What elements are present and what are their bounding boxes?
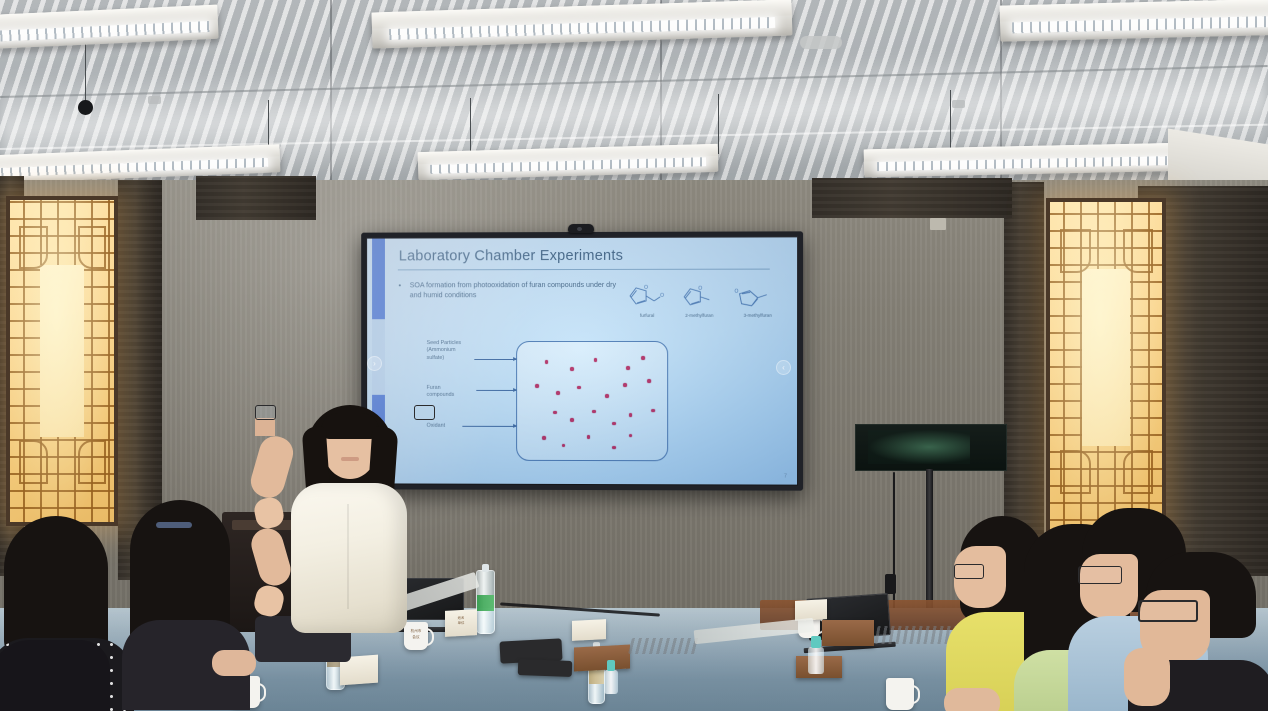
svg-text:O: O (698, 286, 702, 292)
light-wire (718, 94, 719, 154)
wall-header-beam (196, 176, 316, 220)
wooden-tray (574, 645, 630, 672)
chamber-particle (570, 418, 574, 422)
svg-text:O: O (644, 285, 648, 291)
presenter-bangs (321, 413, 379, 439)
chamber-arrow-seed (474, 359, 516, 360)
chamber-particles (367, 237, 797, 238)
chamber-particle (626, 366, 630, 370)
slide-prev-arrow-icon[interactable]: ‹ (776, 360, 791, 375)
wooden-tray (822, 620, 874, 646)
chamber-particle (556, 391, 560, 395)
slide-title: Laboratory Chamber Experiments (399, 248, 623, 265)
attendee-glasses-icon (1138, 600, 1198, 622)
attendee-hands (944, 688, 1000, 711)
svg-text:O: O (660, 293, 664, 299)
methylfuran3-icon: O (730, 280, 782, 312)
foreground-silhouette (0, 640, 110, 711)
chamber-arrow-oxidant (462, 426, 516, 427)
wall-header-beam (812, 178, 1012, 218)
slide-bullet: SOA formation from photooxidation of fur… (399, 280, 626, 301)
hand-sanitizer[interactable] (604, 660, 618, 694)
chamber-particle (612, 422, 616, 426)
keyboard[interactable] (628, 638, 700, 654)
chamber-particle (612, 446, 616, 450)
svg-text:O: O (735, 289, 739, 295)
reaction-chamber-diagram (516, 341, 668, 461)
structure-3-methylfuran: O 3-methylfuran (730, 280, 784, 326)
chamber-particle (542, 436, 546, 440)
attendee-arm (212, 650, 256, 676)
light-wire (470, 98, 471, 154)
webcam-icon (568, 224, 594, 233)
slide-next-arrow-icon[interactable]: › (367, 356, 382, 371)
hand-sanitizer[interactable] (808, 636, 824, 674)
presenter (255, 405, 435, 660)
presenter-hand-left (252, 495, 286, 530)
chamber-particle (641, 356, 645, 360)
wall-outlet-icon (930, 218, 946, 230)
chemical-structures: O O furfural O 2-m (624, 280, 785, 326)
conference-room-scene: Laboratory Chamber Experiments SOA forma… (0, 0, 1268, 711)
structure-furfural: O O furfural (624, 280, 670, 326)
lattice-screen-right (1046, 198, 1166, 538)
presenter-neck (255, 418, 275, 436)
title-divider (398, 269, 770, 271)
coffee-mug[interactable] (886, 678, 914, 710)
name-card-text: 姓名 单位 (447, 615, 475, 627)
presenter-blouse (291, 483, 407, 633)
light-wire (950, 90, 951, 148)
chamber-particle (570, 367, 574, 371)
chamber-particle (535, 384, 539, 388)
presenter-arm-left (247, 433, 297, 502)
methylfuran2-icon: O (676, 280, 722, 312)
bullet-dot-icon (399, 284, 401, 286)
lattice-screen-left (6, 196, 118, 526)
name-card: 姓名 单位 (445, 609, 477, 637)
pendant-light-3 (1000, 0, 1268, 42)
slide-number: 7 (784, 474, 787, 480)
hair-clip (156, 522, 192, 528)
chamber-arrow-furan (476, 390, 516, 391)
attendee-face (1080, 554, 1138, 618)
ceiling-sensor (78, 100, 93, 115)
structure-2-methylfuran: O 2-methylfuran (676, 280, 722, 326)
name-card (572, 619, 606, 641)
chamber-particle (623, 383, 627, 387)
water-bottle[interactable] (476, 570, 495, 634)
furfural-icon: O O (624, 280, 670, 312)
wall-pier (1004, 182, 1044, 572)
attendee-hand (1124, 648, 1170, 706)
microphone[interactable] (518, 659, 573, 677)
sprinkler-head-icon (952, 100, 965, 108)
chamber-particle (605, 394, 609, 398)
sprinkler-head-icon (148, 96, 161, 104)
presenter-mouth (341, 457, 359, 461)
bullet-text: SOA formation from photooxidation of fur… (410, 280, 626, 301)
chamber-particle (647, 379, 651, 383)
chamber-particle (577, 386, 581, 390)
smoke-detector-icon (800, 36, 842, 49)
attendee-right-4 (1146, 552, 1268, 711)
presenter-arm-right (248, 525, 295, 590)
chamber-particle (545, 360, 549, 364)
chem-label-3-methylfuran: 3-methylfuran (730, 313, 784, 318)
presenter-glasses-icon (255, 405, 301, 418)
presenter-hand-right (252, 583, 286, 619)
chem-label-2-methylfuran: 2-methylfuran (676, 313, 722, 318)
chamber-particle (553, 411, 557, 415)
chamber-label-furan: Furancompounds (427, 385, 482, 400)
attendee-glasses-icon (1078, 566, 1122, 584)
chem-label-furfural: furfural (624, 313, 670, 318)
attendee-glasses-icon (954, 564, 984, 579)
attendee-left-2 (118, 500, 248, 710)
